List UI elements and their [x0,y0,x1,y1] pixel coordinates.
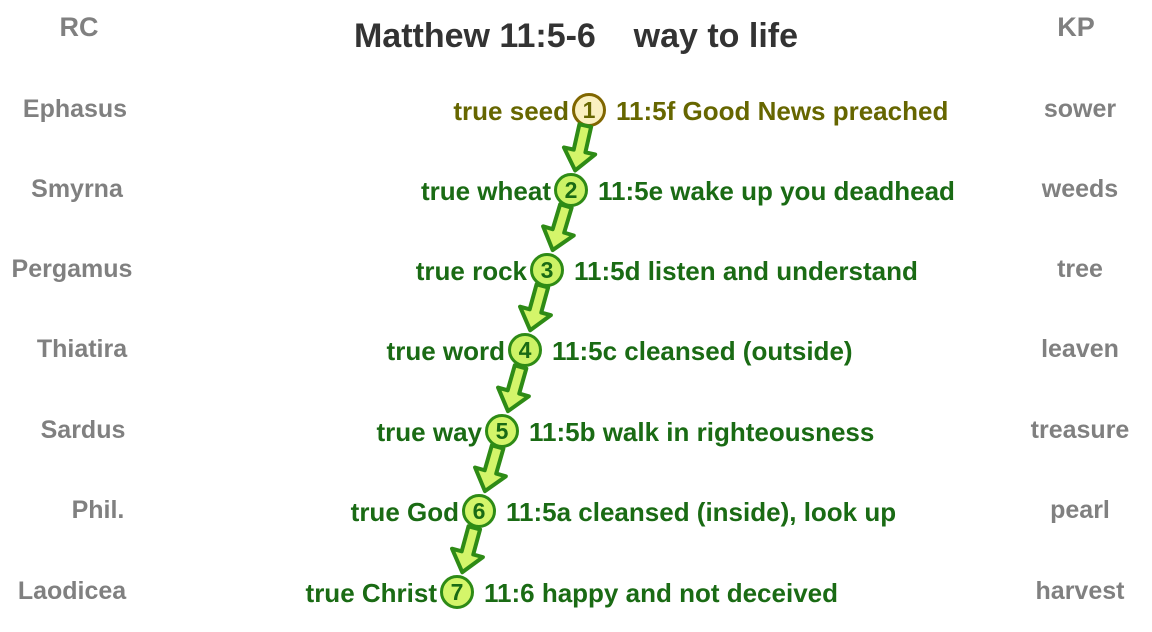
row-left-label-sardus: Sardus [3,408,163,452]
flow-arrow-3-to-4 [508,281,564,337]
row-right-label-treasure: treasure [1000,408,1152,452]
row-post-text: 11:5b walk in righteousness [522,410,874,454]
row-post-text: 11:5a cleansed (inside), look up [499,490,896,534]
row-post-text: 11:5d listen and understand [567,249,918,293]
row-center-text: true wheat211:5e wake up you deadhead [421,167,955,211]
row-right-label-sower: sower [1000,87,1152,131]
row-left-label-ephasus: Ephasus [0,87,155,131]
row-right-label-harvest: harvest [1000,569,1152,613]
row-center-text: true seed111:5f Good News preached [453,87,948,131]
row-left-label-pergamus: Pergamus [0,247,152,291]
row-left-label-thiatira: Thiatira [2,327,162,371]
flow-arrow-5-to-6 [463,442,519,498]
flow-arrow-4-to-5 [486,362,542,418]
row-left-label-laodicea: Laodicea [0,569,152,613]
row-center-text: true way511:5b walk in righteousness [377,408,875,452]
row-left-label-smyrna: Smyrna [0,167,157,211]
step-node-7[interactable]: 7 [440,575,474,609]
diagram-row: Laodiceatrue Christ711:6 happy and not d… [0,569,1152,613]
row-right-label-leaven: leaven [1000,327,1152,371]
row-center-text: true Christ711:6 happy and not deceived [306,569,838,613]
row-center-text: true God611:5a cleansed (inside), look u… [351,488,896,532]
row-left-label-phil: Phil. [18,488,178,532]
diagram-row: Sardustrue way511:5b walk in righteousne… [0,408,1152,452]
row-post-text: 11:5c cleansed (outside) [545,329,853,373]
flow-arrow-6-to-7 [440,523,496,579]
row-right-label-pearl: pearl [1000,488,1152,532]
column-header-kp: KP [1000,14,1152,41]
row-right-label-tree: tree [1000,247,1152,291]
row-post-text: 11:5e wake up you deadhead [591,169,955,213]
row-center-text: true rock311:5d listen and understand [416,247,918,291]
row-post-text: 11:6 happy and not deceived [477,571,838,615]
row-post-text: 11:5f Good News preached [609,89,948,133]
diagram-row: Thiatiratrue word411:5c cleansed (outsid… [0,327,1152,371]
row-right-label-weeds: weeds [1000,167,1152,211]
diagram-row: Phil.true God611:5a cleansed (inside), l… [0,488,1152,532]
row-center-text: true word411:5c cleansed (outside) [387,327,853,371]
flow-arrow-2-to-3 [531,201,587,257]
page-title: Matthew 11:5-6 way to life [0,18,1152,55]
diagram-canvas: RC Matthew 11:5-6 way to life KP Ephasus… [0,0,1152,632]
flow-arrow-1-to-2 [552,121,608,177]
row-pre-text: true Christ [306,571,437,615]
